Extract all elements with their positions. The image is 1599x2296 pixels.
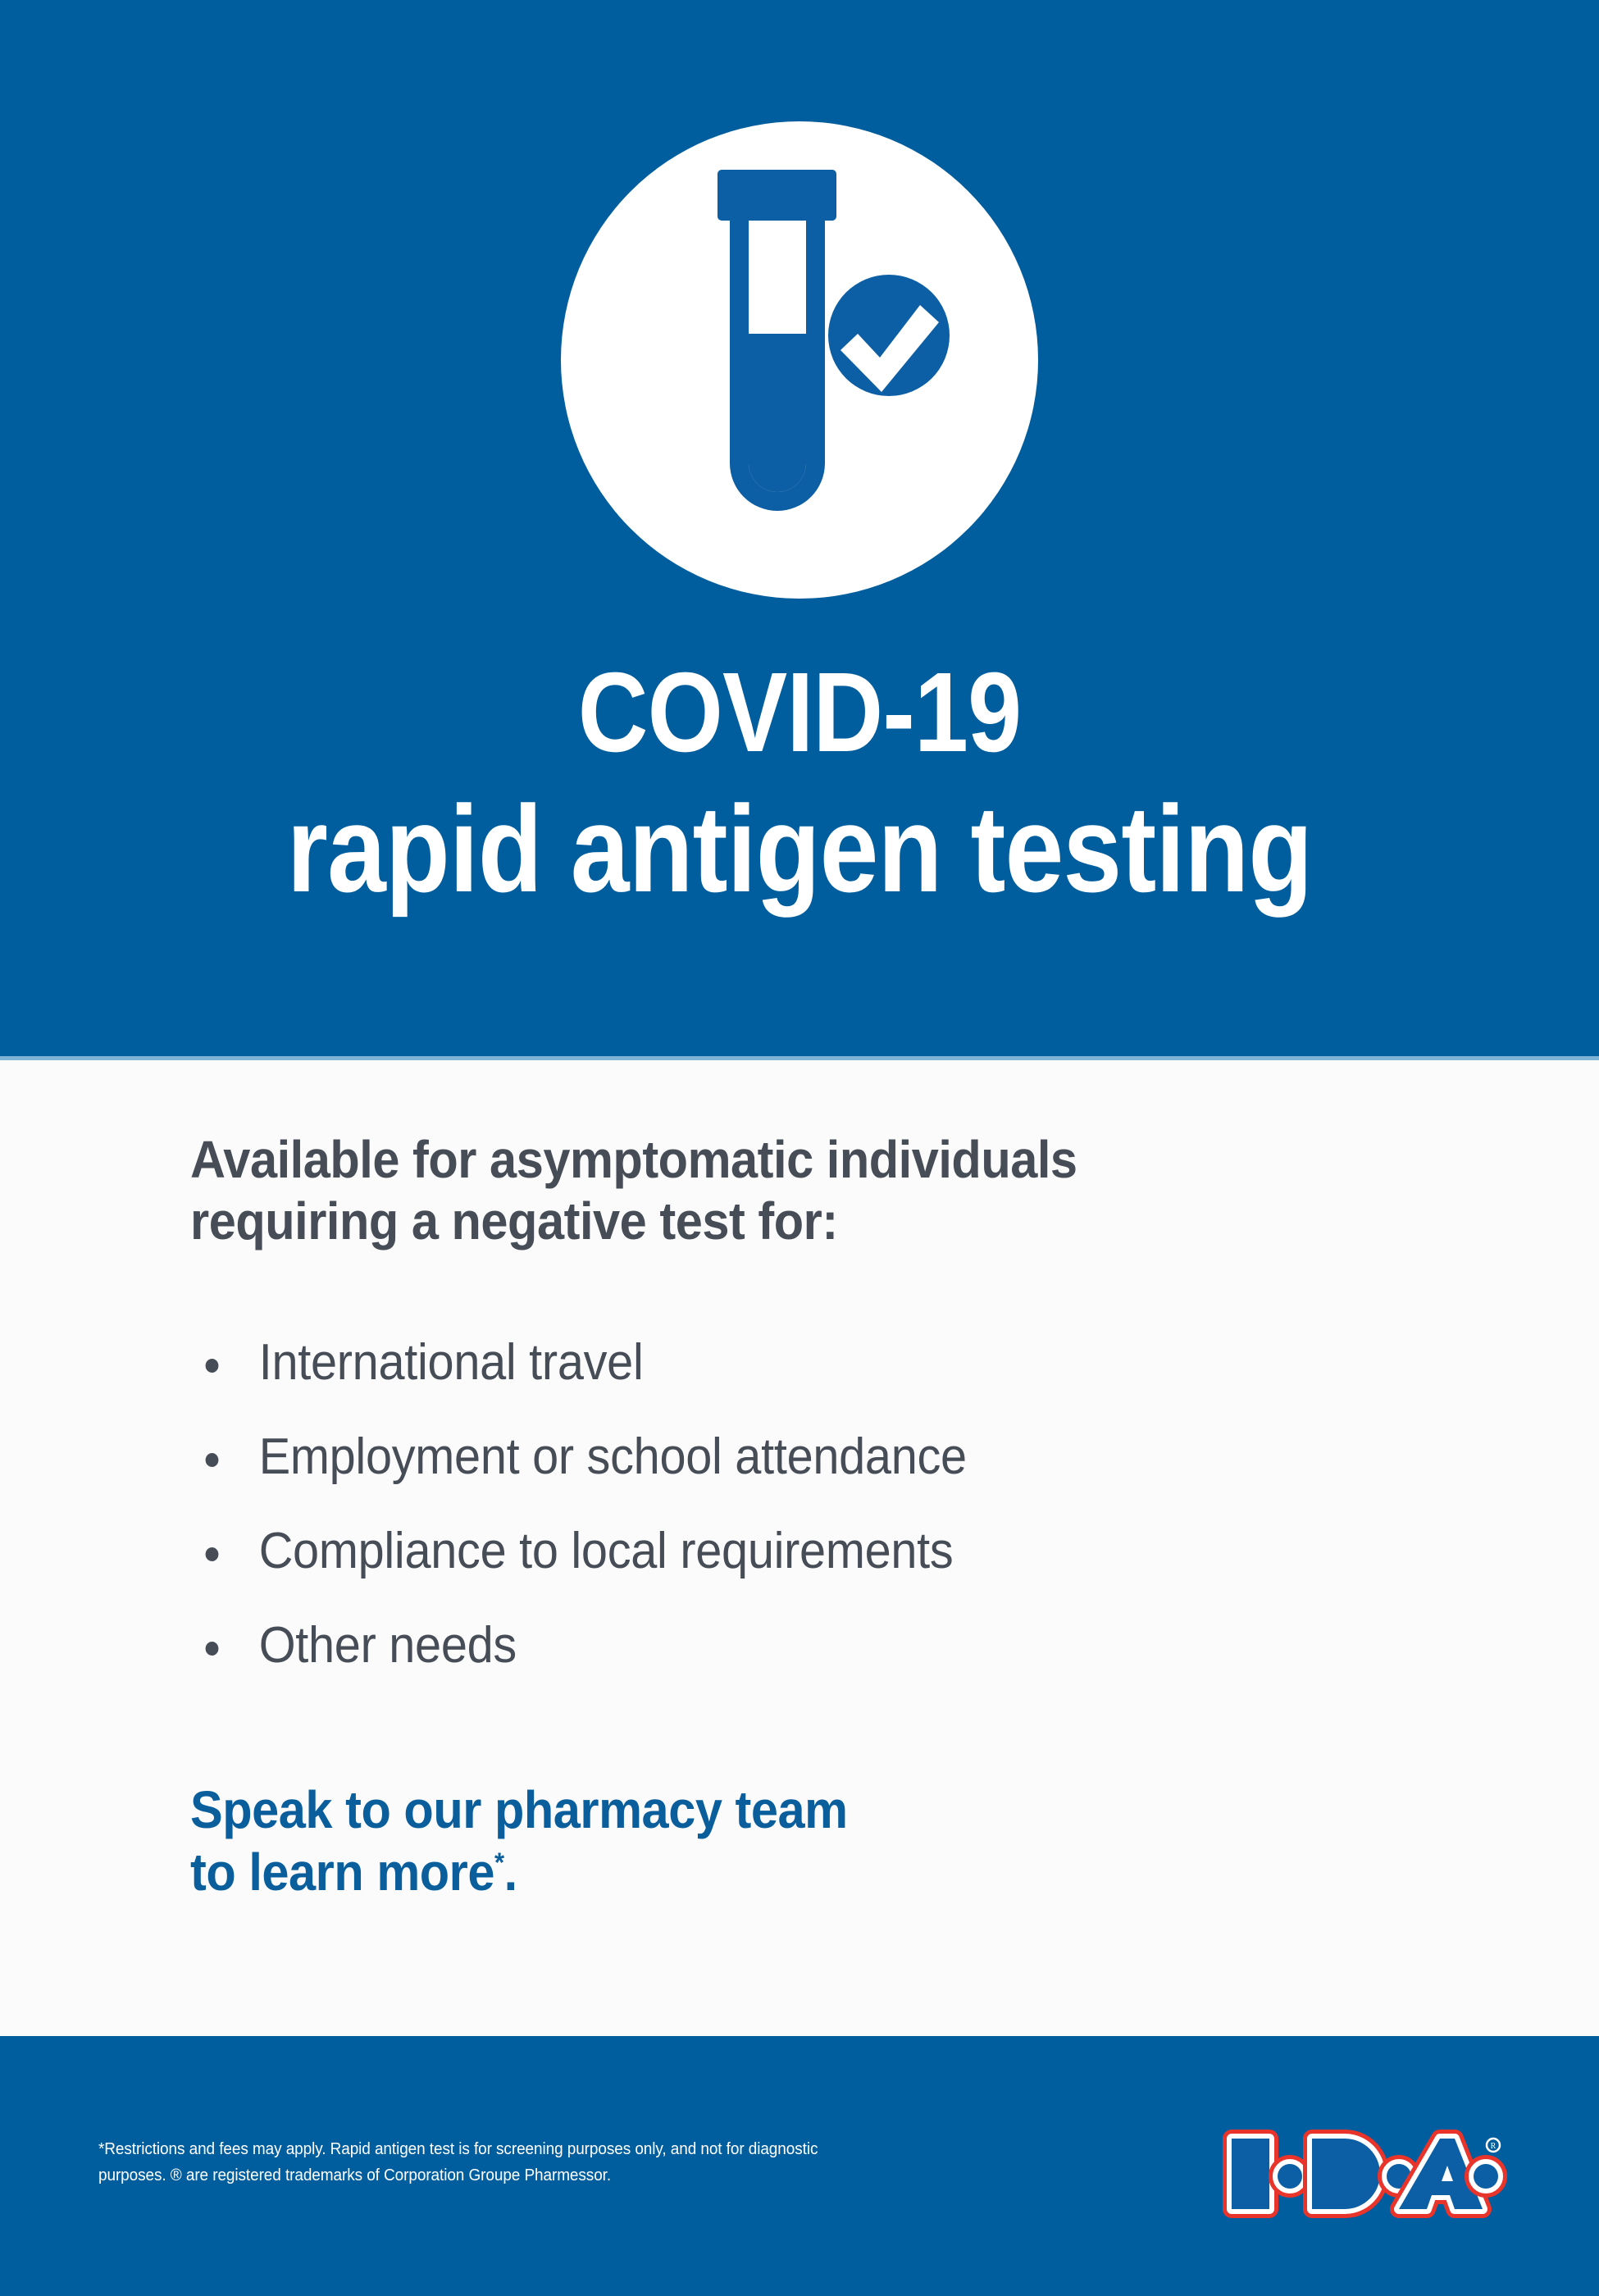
cta-line-1: Speak to our pharmacy team [190,1779,1258,1842]
eligibility-list: International travel Employment or schoo… [190,1337,1519,1715]
legal-line-1: *Restrictions and fees may apply. Rapid … [98,2136,909,2162]
list-item-label: International travel [259,1334,644,1391]
bullet-dot-icon [206,1547,219,1561]
logo-letter-d [1312,2139,1380,2209]
test-tube-check-glyph [561,121,1038,599]
list-item: Compliance to local requirements [190,1526,1426,1577]
list-item: Other needs [190,1620,1426,1671]
cta-line-2-text: to learn more [190,1843,494,1902]
logo-registered-mark-icon: R [1487,2139,1500,2152]
list-item-label: Employment or school attendance [259,1428,967,1485]
list-item: Employment or school attendance [190,1432,1426,1483]
logo-dot-1 [1278,2164,1302,2189]
lead-line-2: requiring a negative test for: [190,1191,1380,1252]
list-item-label: Other needs [259,1617,517,1674]
call-to-action: Speak to our pharmacy team to learn more… [190,1779,1258,1903]
ida-pharmacy-logo: R [1220,2127,1507,2225]
title-line-1: COVID-19 [112,656,1487,769]
test-tube-check-icon [561,121,1038,599]
legal-line-2: purposes. ® are registered trademarks of… [98,2162,909,2189]
poster-title: COVID-19 rapid antigen testing [0,656,1599,910]
cta-line-2: to learn more*. [190,1842,1258,1904]
poster-canvas: COVID-19 rapid antigen testing Available… [0,0,1599,2296]
list-item: International travel [190,1337,1426,1388]
lead-paragraph: Available for asymptomatic individuals r… [190,1129,1380,1252]
list-item-label: Compliance to local requirements [259,1523,954,1579]
poster-header: COVID-19 rapid antigen testing [0,0,1599,1059]
bullet-dot-icon [206,1642,219,1656]
bullet-dot-icon [206,1453,219,1467]
poster-body: Available for asymptomatic individuals r… [0,1060,1599,2036]
logo-dot-3 [1474,2164,1498,2189]
cta-asterisk: * [494,1847,504,1878]
logo-letter-i [1232,2139,1269,2209]
svg-text:R: R [1491,2142,1496,2151]
ida-logo-glyph: R [1220,2127,1507,2225]
legal-disclaimer: *Restrictions and fees may apply. Rapid … [98,2136,909,2189]
title-line-2: rapid antigen testing [112,787,1487,910]
cta-period: . [504,1843,517,1902]
lead-line-1: Available for asymptomatic individuals [190,1129,1380,1191]
bullet-dot-icon [206,1359,219,1373]
